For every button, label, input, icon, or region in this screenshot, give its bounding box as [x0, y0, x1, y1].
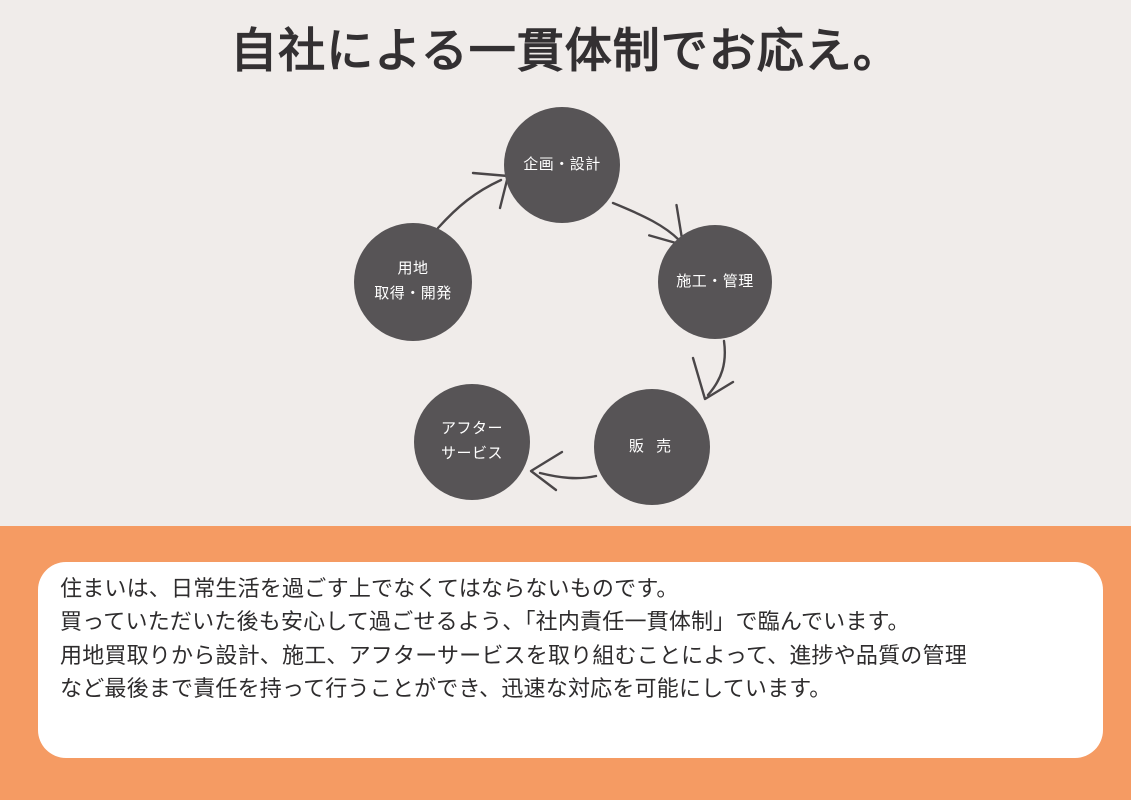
- arrow-construction-to-sales-shaft: [708, 341, 725, 395]
- description-line-3: 用地買取りから設計、施工、アフターサービスを取り組むことによって、進捗や品質の管…: [60, 639, 1093, 672]
- arrow-land-to-planning-shaft: [438, 180, 501, 228]
- cycle-node-land-label: 用地 取得・開発: [374, 257, 452, 307]
- cycle-node-planning[interactable]: 企画・設計: [504, 107, 620, 223]
- cycle-node-aftercare-label: アフター サービス: [441, 417, 503, 467]
- cycle-node-construction-line1: 施工・管理: [676, 270, 754, 295]
- description-line-1: 住まいは、日常生活を過ごす上でなくてはならないものです。: [60, 572, 1093, 605]
- cycle-node-aftercare-line2: サービス: [441, 442, 503, 467]
- cycle-node-construction[interactable]: 施工・管理: [658, 225, 772, 339]
- cycle-node-sales-line1: 販 売: [629, 435, 675, 460]
- cycle-node-sales[interactable]: 販 売: [594, 389, 710, 505]
- cycle-node-planning-line1: 企画・設計: [523, 153, 601, 178]
- arrow-construction-to-sales-head: [693, 358, 733, 399]
- description-line-4: など最後まで責任を持って行うことができ、迅速な対応を可能にしています。: [60, 672, 1093, 705]
- cycle-node-aftercare[interactable]: アフター サービス: [414, 384, 530, 500]
- cycle-node-land[interactable]: 用地 取得・開発: [354, 223, 472, 341]
- cycle-node-land-line1: 用地: [374, 257, 452, 282]
- cycle-node-land-line2: 取得・開発: [374, 282, 452, 307]
- arrow-sales-to-aftercare-shaft: [540, 473, 596, 478]
- description-line-2: 買っていただいた後も安心して過ごせるよう、「社内責任一貫体制」で臨んでいます。: [60, 605, 1093, 638]
- cycle-node-sales-label: 販 売: [629, 435, 675, 460]
- arrow-planning-to-construction-shaft: [613, 203, 679, 240]
- arrow-land-to-planning-head: [473, 173, 508, 208]
- cycle-node-construction-label: 施工・管理: [676, 270, 754, 295]
- description-text: 住まいは、日常生活を過ごす上でなくてはならないものです。 買っていただいた後も安…: [60, 572, 1093, 706]
- cycle-node-planning-label: 企画・設計: [523, 153, 601, 178]
- description-card: 住まいは、日常生活を過ごす上でなくてはならないものです。 買っていただいた後も安…: [38, 562, 1103, 758]
- cycle-node-aftercare-line1: アフター: [441, 417, 503, 442]
- hero-section: 自社による一貫体制でお応え。: [0, 0, 1131, 526]
- arrow-sales-to-aftercare-head: [531, 452, 562, 490]
- cycle-arrows: [0, 0, 1131, 526]
- page-root: 自社による一貫体制でお応え。: [0, 0, 1131, 800]
- cycle-diagram: 企画・設計 施工・管理 販 売 アフター サービス: [0, 0, 1131, 526]
